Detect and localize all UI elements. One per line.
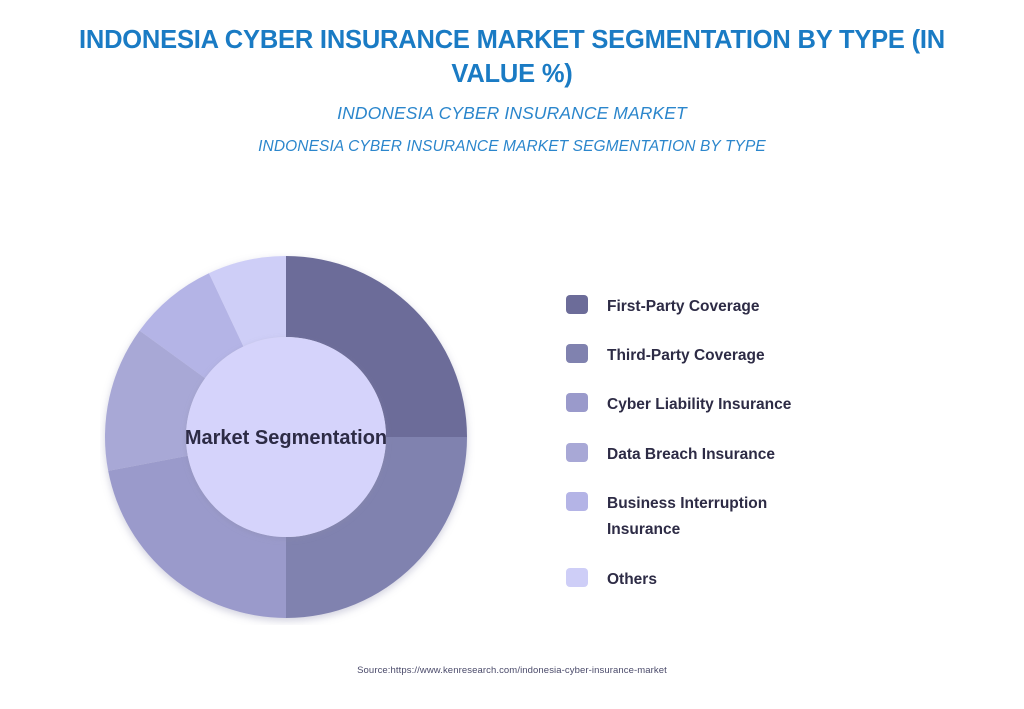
chart-legend: First-Party CoverageThird-Party Coverage…	[566, 294, 966, 616]
source-note: Source:https://www.kenresearch.com/indon…	[0, 665, 1024, 676]
chart-subtitle-primary: INDONESIA CYBER INSURANCE MARKET	[0, 103, 1024, 124]
donut-center-label: Market Segmentation	[185, 427, 387, 449]
chart-page: INDONESIA CYBER INSURANCE MARKET SEGMENT…	[0, 0, 1024, 709]
legend-swatch-icon	[566, 492, 588, 511]
donut-chart: Market Segmentation	[100, 250, 475, 625]
donut-chart-svg: Market Segmentation	[100, 250, 475, 625]
legend-item-label: Cyber Liability Insurance	[607, 392, 791, 417]
chart-subtitle-secondary: INDONESIA CYBER INSURANCE MARKET SEGMENT…	[0, 138, 1024, 156]
legend-swatch-icon	[566, 443, 588, 462]
legend-item[interactable]: Others	[566, 567, 966, 592]
legend-item-label: Third-Party Coverage	[607, 343, 765, 368]
legend-item[interactable]: Data Breach Insurance	[566, 442, 966, 467]
legend-item-label: First-Party Coverage	[607, 294, 759, 319]
legend-item[interactable]: First-Party Coverage	[566, 294, 966, 319]
legend-item-label: Others	[607, 567, 657, 592]
legend-item[interactable]: Cyber Liability Insurance	[566, 392, 966, 417]
legend-item-label: Data Breach Insurance	[607, 442, 775, 467]
legend-item[interactable]: Third-Party Coverage	[566, 343, 966, 368]
legend-swatch-icon	[566, 295, 588, 314]
legend-swatch-icon	[566, 568, 588, 587]
chart-header: INDONESIA CYBER INSURANCE MARKET SEGMENT…	[0, 24, 1024, 156]
page-title: INDONESIA CYBER INSURANCE MARKET SEGMENT…	[72, 24, 952, 91]
legend-item-label: Business Interruption Insurance	[607, 491, 837, 541]
legend-swatch-icon	[566, 393, 588, 412]
legend-item[interactable]: Business Interruption Insurance	[566, 491, 966, 541]
legend-swatch-icon	[566, 344, 588, 363]
